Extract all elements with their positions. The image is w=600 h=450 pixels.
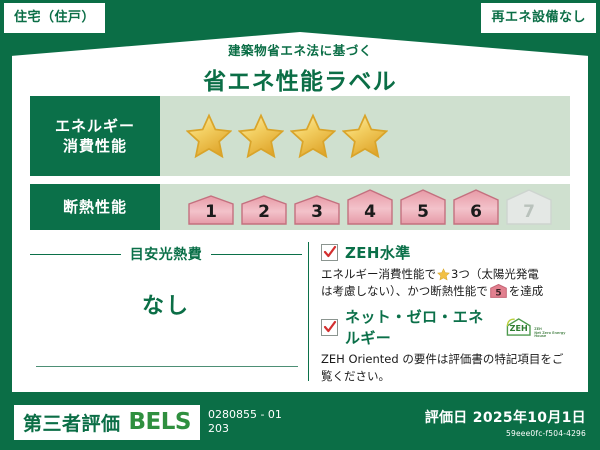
zeh-logo-subtext: ZEH Net Zero Energy House: [534, 328, 570, 340]
energy-key-line1: エネルギー: [55, 116, 135, 136]
star-icon: [290, 113, 336, 159]
bels-english-text: BELS: [129, 409, 191, 435]
insulation-level-value: 1: [186, 202, 236, 222]
evaluation-date-label: 評価日: [425, 410, 468, 426]
net-zero-energy-header: ネット・ゼロ・エネルギー ZEH ZEH Net Zero Energy Hou…: [321, 306, 570, 348]
insulation-level-1: 1: [186, 195, 236, 225]
evaluation-date-value: 2025年10月1日: [473, 410, 586, 426]
insulation-level-value: 7: [504, 202, 554, 222]
zeh-standard-description: エネルギー消費性能で3つ（太陽光発電 は考慮しない）、かつ断熱性能で5を達成: [321, 266, 570, 302]
star-icon: [342, 113, 388, 159]
heading-rule-left: [30, 254, 121, 255]
net-zero-energy-title: ネット・ゼロ・エネルギー: [345, 306, 495, 348]
zeh-house-icon: ZEH: [505, 315, 532, 339]
insulation-performance-row: 断熱性能 1234567: [30, 184, 570, 230]
insulation-level-value: 2: [239, 202, 289, 222]
insulation-level-7: 7: [504, 189, 554, 225]
insulation-performance-value: 1234567: [160, 184, 570, 230]
insulation-level-5: 5: [398, 189, 448, 225]
energy-performance-key: エネルギー 消費性能: [30, 96, 160, 176]
column-divider: [308, 242, 309, 381]
zeh-standard-checkbox[interactable]: [321, 244, 338, 261]
zeh-desc-part-c: は考慮しない）、かつ断熱性能で: [321, 284, 488, 298]
energy-performance-value: [160, 96, 570, 176]
zeh-desc-part-d: を達成: [509, 284, 544, 298]
heading-rule-right: [211, 254, 302, 255]
inline-level-badge-value: 5: [495, 288, 501, 298]
lower-section: 目安光熱費 なし ZEH水準: [30, 238, 570, 389]
utility-cost-bottom-rule: [36, 366, 298, 367]
net-zero-energy-checkbox[interactable]: [321, 319, 338, 336]
star-icon: [186, 113, 232, 159]
title-subtitle: 建築物省エネ法に基づく: [0, 40, 600, 59]
insulation-performance-key: 断熱性能: [30, 184, 160, 230]
evaluation-date: 評価日 2025年10月1日: [425, 407, 586, 427]
insulation-level-6: 6: [451, 189, 501, 225]
zeh-desc-part-a: エネルギー消費性能で: [321, 267, 436, 281]
insulation-level-value: 4: [345, 202, 395, 222]
net-zero-energy-description: ZEH Oriented の要件は評価書の特記項目をご覧ください。: [321, 351, 570, 384]
badge-building-type: 住宅（住戸）: [4, 3, 105, 33]
certificate-number-line1: 0280855 - 01: [208, 408, 282, 422]
evaluation-info: 評価日 2025年10月1日 59eee0fc-f504-4296: [425, 407, 586, 438]
star-rating: [160, 113, 388, 159]
zeh-logo: ZEH ZEH Net Zero Energy House: [505, 315, 570, 339]
inline-level-badge: 5: [490, 284, 507, 303]
utility-cost-label: 目安光熱費: [121, 244, 212, 264]
label-content: エネルギー 消費性能 断熱性能 1234567 目安光熱費 なし: [12, 80, 588, 392]
certificate-number-line2: 203: [208, 422, 282, 436]
label-footer: 第三者評価 BELS 0280855 - 01 203 評価日 2025年10月…: [0, 394, 600, 450]
zeh-panel: ZEH水準 エネルギー消費性能で3つ（太陽光発電 は考慮しない）、かつ断熱性能で…: [321, 238, 570, 389]
insulation-level-value: 6: [451, 202, 501, 222]
zeh-standard-block: ZEH水準 エネルギー消費性能で3つ（太陽光発電 は考慮しない）、かつ断熱性能で…: [321, 242, 570, 302]
certificate-number: 0280855 - 01 203: [208, 408, 282, 436]
insulation-level-4: 4: [345, 189, 395, 225]
star-icon: [238, 113, 284, 159]
insulation-level-value: 5: [398, 202, 448, 222]
net-zero-energy-block: ネット・ゼロ・エネルギー ZEH ZEH Net Zero Energy Hou…: [321, 306, 570, 384]
insulation-level-value: 3: [292, 202, 342, 222]
energy-performance-row: エネルギー 消費性能: [30, 96, 570, 176]
energy-performance-label: 住宅（住戸） 再エネ設備なし 建築物省エネ法に基づく 省エネ性能ラベル エネルギ…: [0, 0, 600, 450]
utility-cost-heading: 目安光熱費: [30, 244, 302, 264]
utility-cost-value: なし: [30, 288, 302, 320]
zeh-standard-title: ZEH水準: [345, 242, 411, 263]
bels-japanese-text: 第三者評価: [23, 409, 121, 436]
insulation-level-3: 3: [292, 195, 342, 225]
badge-renewable-equipment: 再エネ設備なし: [481, 3, 596, 33]
insulation-scale: 1234567: [160, 189, 554, 225]
inline-star-icon: [437, 268, 450, 281]
insulation-level-2: 2: [239, 195, 289, 225]
zeh-logo-text: ZEH: [510, 324, 528, 333]
zeh-logo-sub2: Net Zero Energy House: [534, 331, 565, 339]
evaluation-id: 59eee0fc-f504-4296: [425, 429, 586, 438]
zeh-desc-part-b: 3つ（太陽光発電: [451, 267, 539, 281]
utility-cost-panel: 目安光熱費 なし: [30, 238, 302, 389]
bels-logo: 第三者評価 BELS: [14, 405, 200, 440]
zeh-standard-header: ZEH水準: [321, 242, 570, 263]
energy-key-line2: 消費性能: [63, 136, 127, 156]
